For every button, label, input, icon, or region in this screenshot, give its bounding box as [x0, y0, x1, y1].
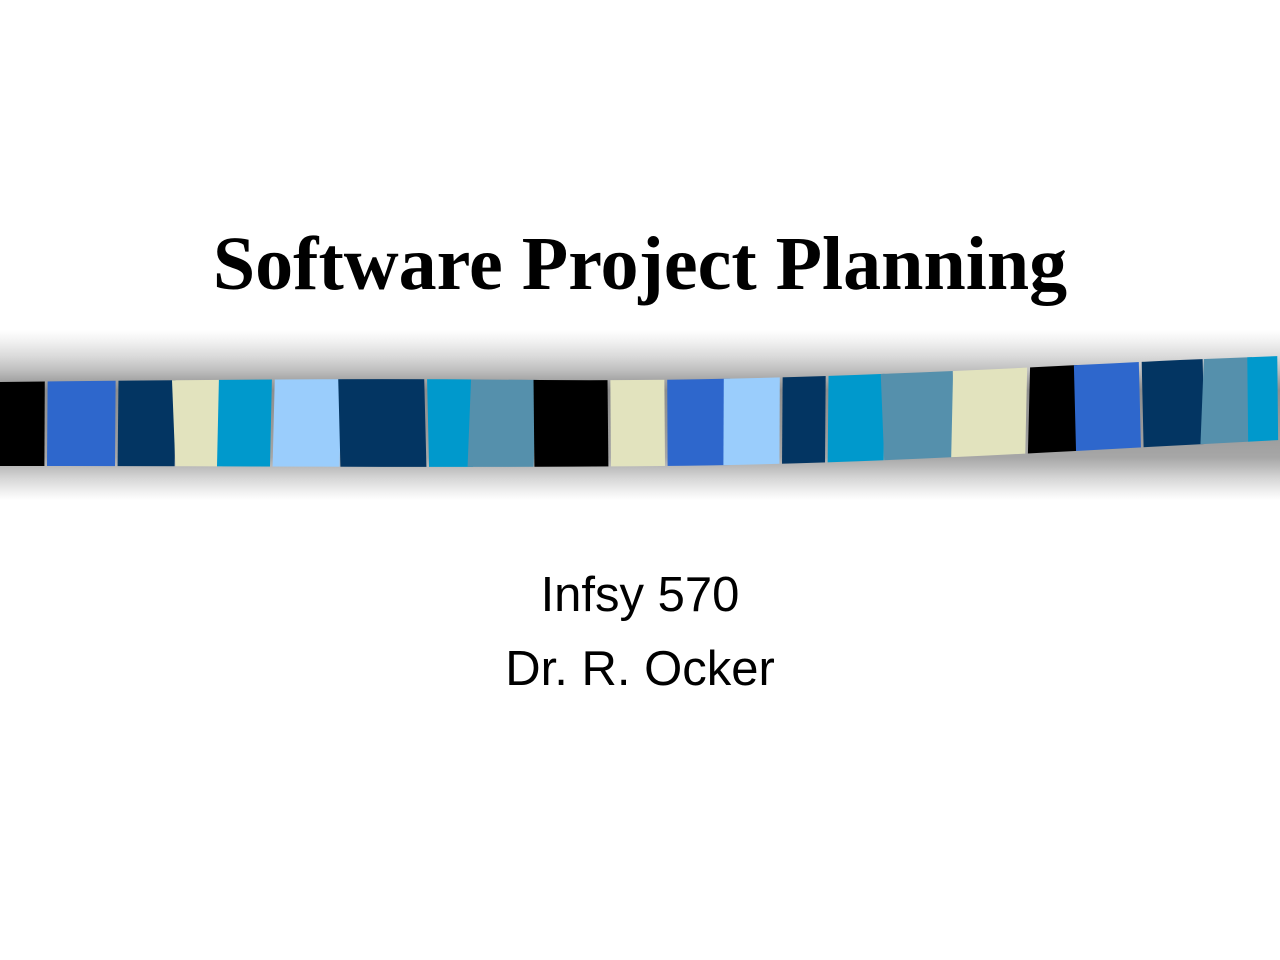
stripe: [426, 330, 474, 500]
stripe: [1247, 330, 1279, 500]
presentation-slide: Software Project Planning Infsy 570 Dr. …: [0, 0, 1280, 960]
subtitle-line-course: Infsy 570: [0, 558, 1280, 632]
title-block: Software Project Planning: [0, 222, 1280, 306]
stripe: [827, 330, 885, 500]
stripe: [1027, 330, 1079, 500]
stripe: [1073, 330, 1142, 500]
stripe: [782, 330, 826, 500]
stripe: [216, 330, 273, 500]
stripe: [117, 330, 176, 500]
stripe: [1198, 330, 1253, 500]
subtitle-block: Infsy 570 Dr. R. Ocker: [0, 558, 1280, 706]
stripe-list: [0, 330, 1279, 500]
page-title: Software Project Planning: [0, 222, 1280, 306]
stripe: [0, 330, 45, 500]
stripe: [667, 330, 731, 500]
stripe: [466, 330, 539, 500]
stripe: [950, 330, 1028, 500]
stripe: [610, 330, 665, 500]
banner-stripes-graphic: [0, 330, 1280, 500]
stripe: [879, 330, 958, 500]
stripe: [1141, 330, 1206, 500]
stripe: [337, 330, 427, 500]
subtitle-line-instructor: Dr. R. Ocker: [0, 632, 1280, 706]
stripe: [723, 330, 780, 500]
stripe: [170, 330, 224, 500]
stripe: [533, 330, 609, 500]
stripe: [47, 330, 116, 500]
decorative-stripe-band: [0, 330, 1280, 500]
stripe: [272, 330, 343, 500]
